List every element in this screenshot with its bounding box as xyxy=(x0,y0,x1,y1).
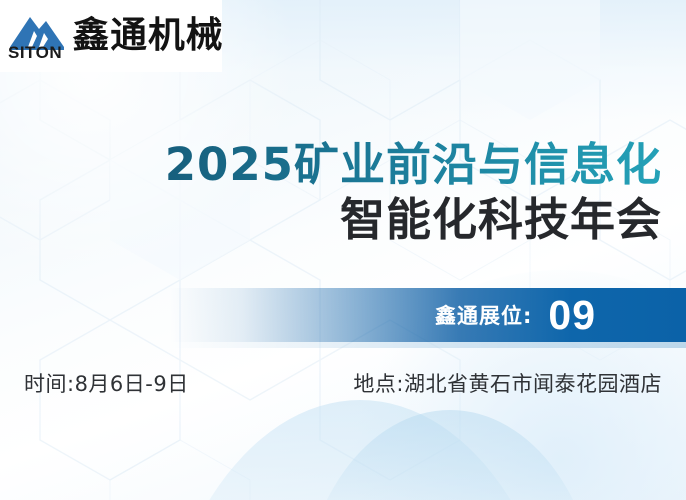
event-poster: SITON 鑫通机械 2025矿业前沿与信息化 智能化科技年会 鑫通展位: 09… xyxy=(0,0,686,500)
logo-chinese-name: 鑫通机械 xyxy=(73,18,224,54)
booth-number: 09 xyxy=(548,295,596,336)
logo-latin-name: SITON xyxy=(8,44,62,61)
mountain-peaks-icon: SITON xyxy=(6,7,68,65)
booth-number-band: 鑫通展位: 09 xyxy=(170,288,686,342)
bottom-arc-decoration xyxy=(150,400,570,500)
headline-line-1: 2025矿业前沿与信息化 xyxy=(0,138,662,191)
event-info-row: 时间:8月6日-9日 地点:湖北省黄石市闻泰花园酒店 xyxy=(24,368,662,398)
hexagon-pattern-background xyxy=(0,0,686,500)
poster-headline: 2025矿业前沿与信息化 智能化科技年会 xyxy=(0,138,662,247)
event-time: 时间:8月6日-9日 xyxy=(24,368,189,398)
bottom-arc-decoration-inner xyxy=(300,410,600,500)
headline-line-2: 智能化科技年会 xyxy=(0,193,662,247)
booth-label: 鑫通展位: xyxy=(435,300,532,330)
brand-logo: SITON 鑫通机械 xyxy=(0,0,222,72)
event-location: 地点:湖北省黄石市闻泰花园酒店 xyxy=(353,368,662,398)
